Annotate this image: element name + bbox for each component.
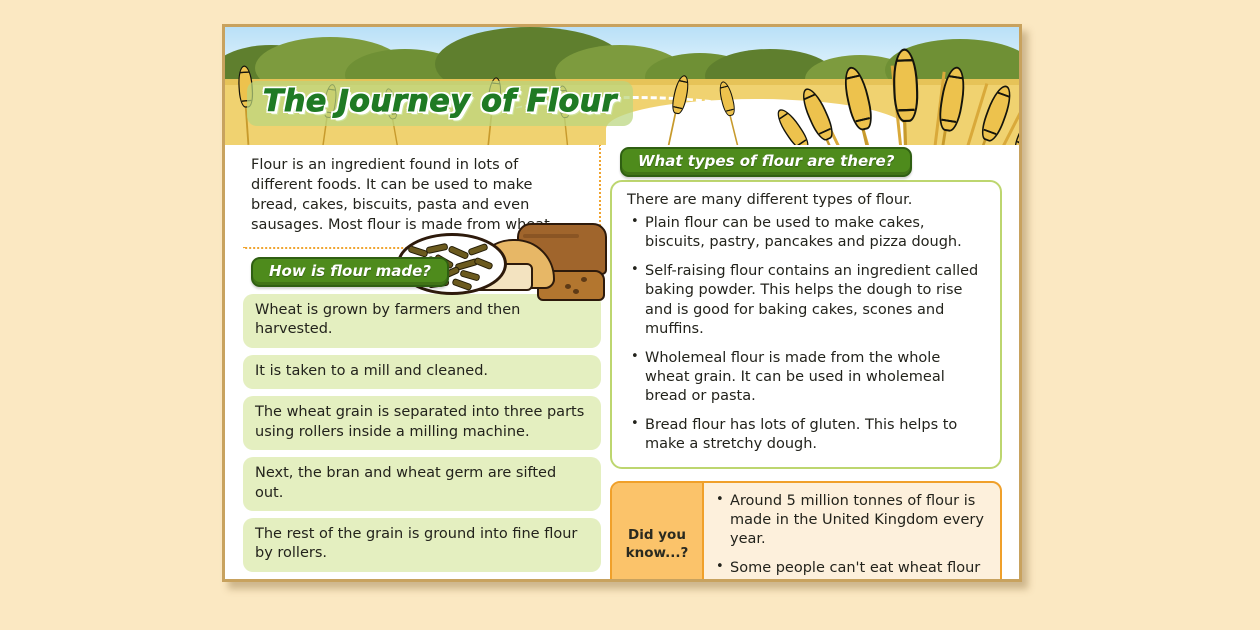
page-title: The Journey of Flour bbox=[263, 84, 617, 119]
did-you-know-list: Around 5 million tonnes of flour is made… bbox=[714, 492, 988, 582]
types-lead-text: There are many different types of flour. bbox=[627, 192, 987, 208]
step-item: Wheat is grown by farmers and then harve… bbox=[243, 294, 601, 348]
header-illustration-banner: The Journey of Flour bbox=[225, 27, 1019, 145]
screenshot-root: The Journey of Flour Flour is an ingredi… bbox=[0, 0, 1260, 630]
types-bullet-list: Plain flour can be used to make cakes, b… bbox=[625, 214, 987, 455]
wheat-stalk-icon bbox=[655, 77, 695, 145]
page-title-pill: The Journey of Flour bbox=[247, 81, 633, 126]
did-you-know-label: Did you know...? bbox=[612, 483, 704, 582]
step-item: It is taken to a mill and cleaned. bbox=[243, 355, 601, 389]
did-you-know-box: Did you know...? Around 5 million tonnes… bbox=[610, 481, 1002, 582]
page-title-wrap: The Journey of Flour bbox=[247, 81, 633, 126]
right-column: What types of flour are there? There are… bbox=[610, 145, 1002, 582]
worksheet-body: Flour is an ingredient found in lots of … bbox=[225, 145, 1019, 579]
heading-how-is-flour-made: How is flour made? bbox=[251, 257, 449, 287]
types-heading-row: What types of flour are there? bbox=[620, 147, 1002, 177]
list-item: Some people can't eat wheat flour becaus… bbox=[730, 559, 988, 582]
wheat-stalk-icon bbox=[725, 83, 765, 145]
list-item: Plain flour can be used to make cakes, b… bbox=[645, 214, 987, 253]
worksheet-card: The Journey of Flour Flour is an ingredi… bbox=[222, 24, 1022, 582]
step-item: Next, the bran and wheat germ are sifted… bbox=[243, 457, 601, 511]
did-you-know-body: Around 5 million tonnes of flour is made… bbox=[704, 483, 1000, 582]
types-of-flour-box: There are many different types of flour.… bbox=[610, 180, 1002, 469]
left-column: Flour is an ingredient found in lots of … bbox=[243, 145, 601, 582]
step-item: The rest of the grain is ground into fin… bbox=[243, 518, 601, 572]
heading-what-types-of-flour: What types of flour are there? bbox=[620, 147, 912, 177]
list-item: Around 5 million tonnes of flour is made… bbox=[730, 492, 988, 550]
wheat-bundle-illustration bbox=[825, 37, 1019, 145]
list-item: Bread flour has lots of gluten. This hel… bbox=[645, 416, 987, 455]
list-item: Wholemeal flour is made from the whole w… bbox=[645, 349, 987, 407]
list-item: Self-raising flour contains an ingredien… bbox=[645, 262, 987, 340]
step-item: The wheat grain is separated into three … bbox=[243, 396, 601, 450]
step-item: The flour is taken to bakeries, supermar… bbox=[243, 579, 601, 582]
